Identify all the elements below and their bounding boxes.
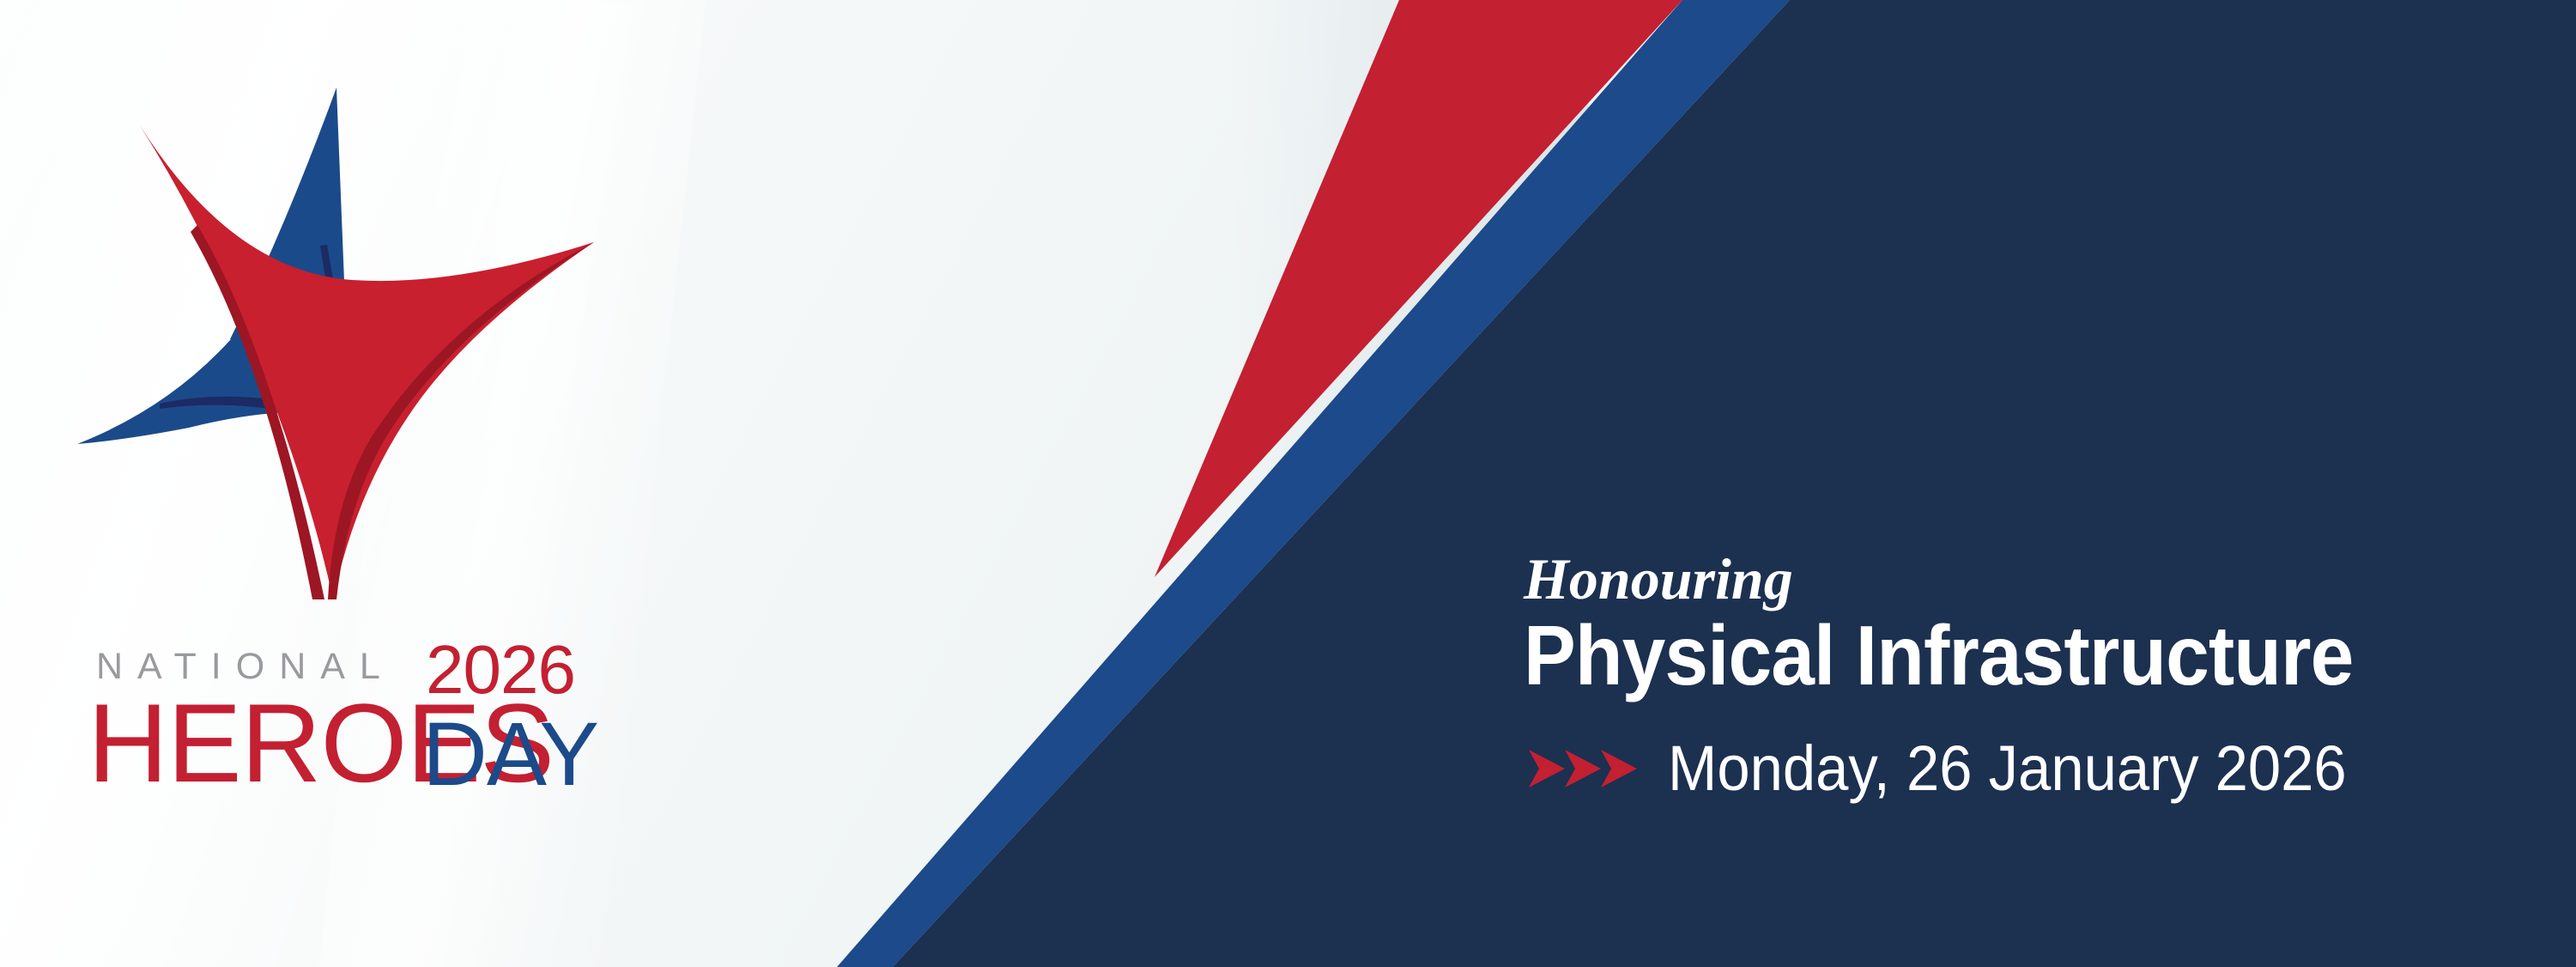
headline-block: Honouring Physical Infrastructure Monday… <box>1524 550 2485 800</box>
logo-red-swoosh <box>140 125 594 599</box>
star-swoosh-logo-icon <box>60 60 609 601</box>
wordmark-day: DAY <box>422 709 598 800</box>
wordmark-year: 2026 <box>426 636 575 704</box>
wordmark: NATIONAL HEROES 2026 DAY <box>82 646 855 852</box>
date-row: Monday, 26 January 2026 <box>1524 737 2485 800</box>
headline-kicker: Honouring <box>1524 550 2485 608</box>
navy-panel <box>893 0 2576 967</box>
headline-title: Physical Infrastructure <box>1524 613 2418 699</box>
event-date: Monday, 26 January 2026 <box>1668 737 2347 800</box>
national-heroes-day-banner: NATIONAL HEROES 2026 DAY Honouring Physi… <box>0 0 2576 967</box>
triple-chevron-right-icon <box>1527 745 1647 793</box>
